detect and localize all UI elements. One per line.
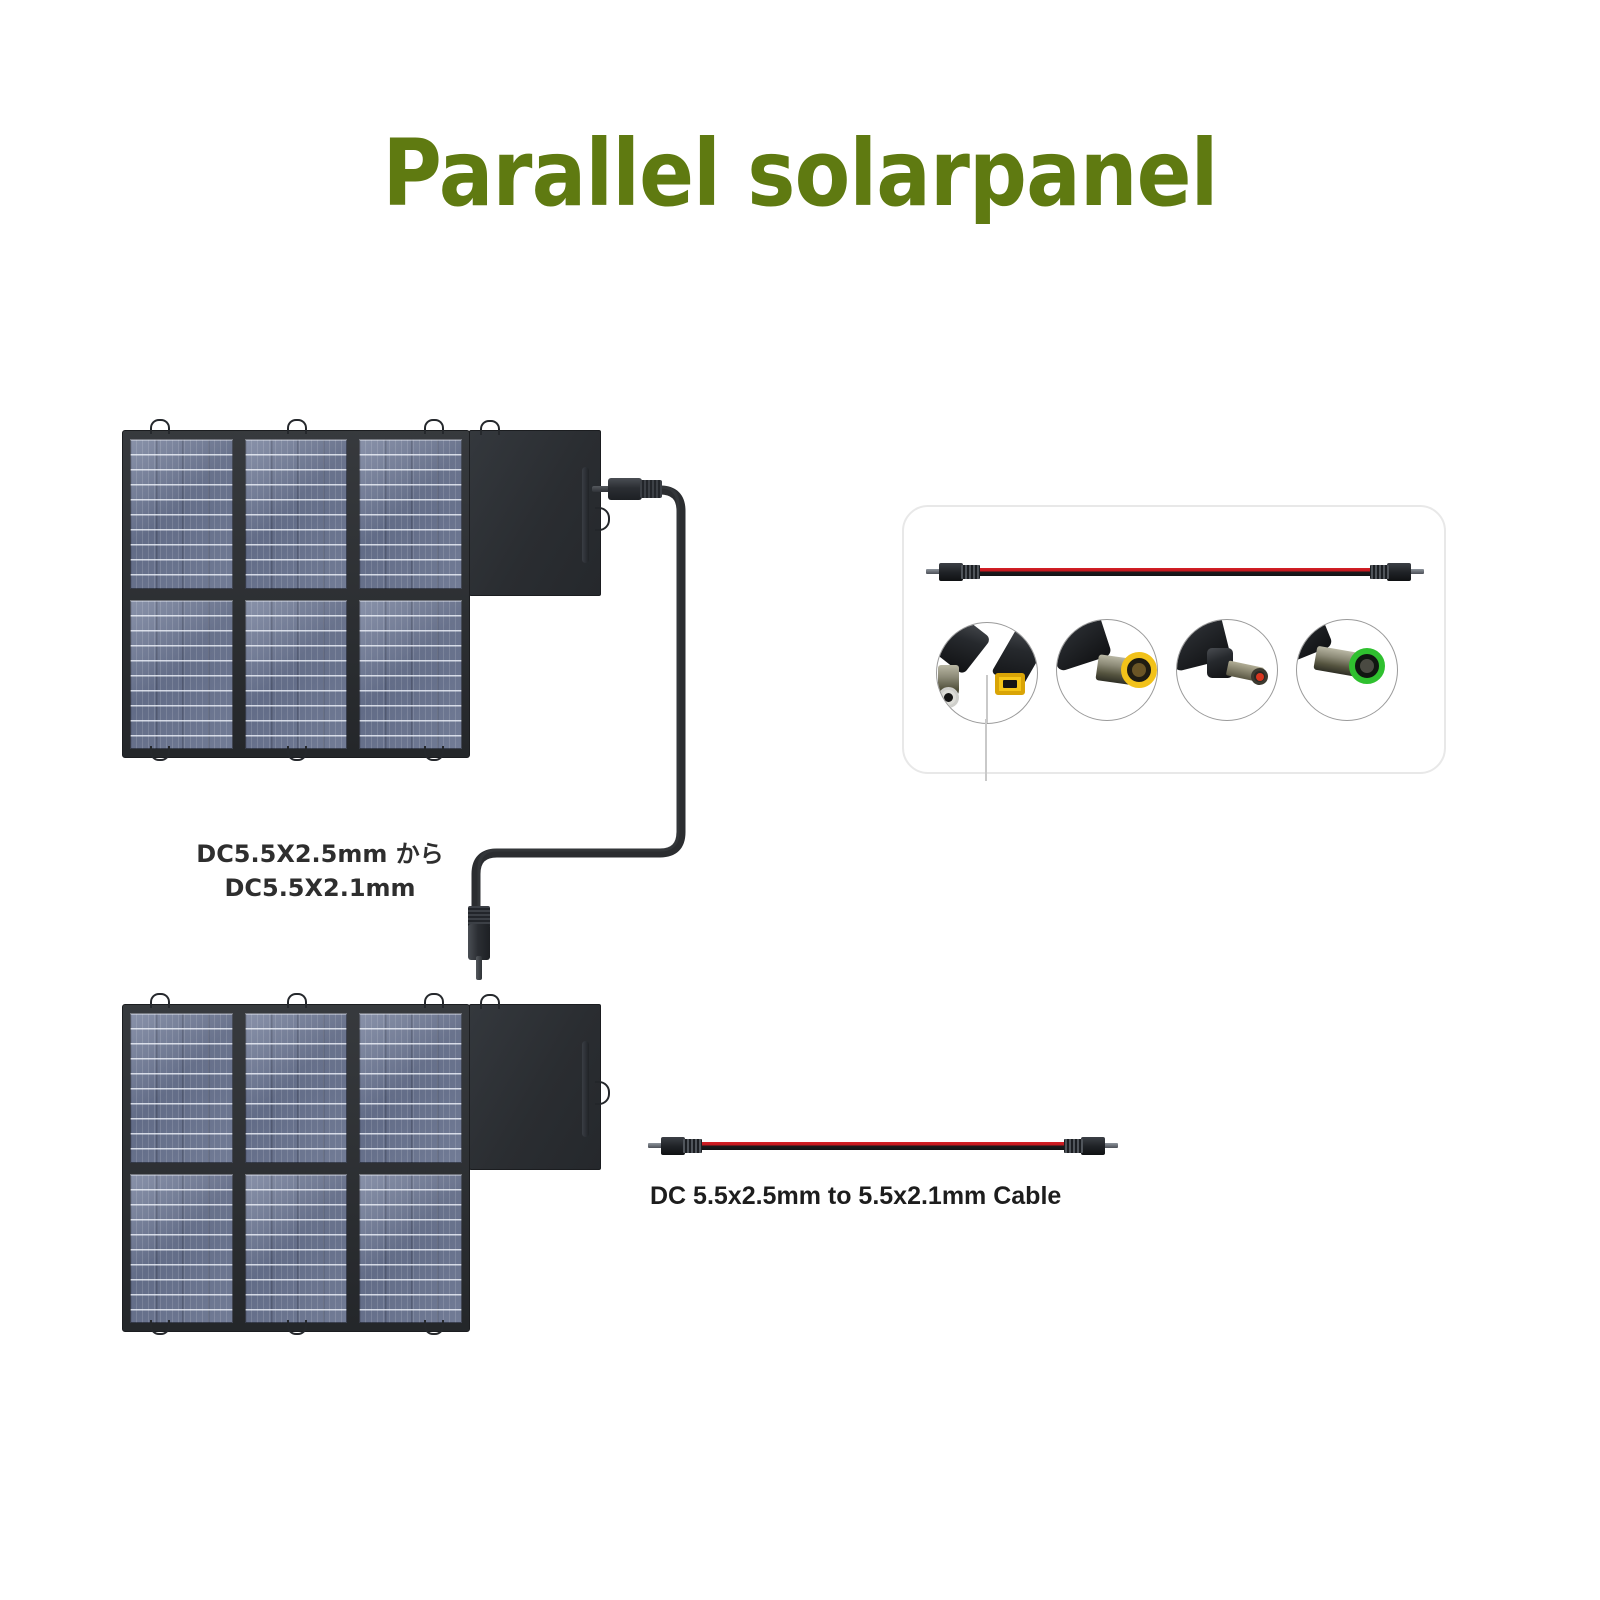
dc-plug-grip [1064, 1139, 1083, 1153]
flap-handle-strip [582, 467, 589, 563]
connector-detail-card [902, 505, 1446, 774]
solar-cell [245, 1174, 348, 1324]
solar-cell [359, 439, 462, 589]
solar-cell [130, 439, 233, 589]
dc-extension-cable-sample [648, 1133, 1118, 1159]
solar-cell [245, 439, 348, 589]
loop-icon [424, 993, 444, 1008]
dc-plug-barrel [1387, 563, 1411, 581]
solar-cell [130, 600, 233, 750]
solar-cell [359, 600, 462, 750]
loop-icon [150, 419, 170, 434]
dc-plug-grip [961, 565, 980, 579]
loop-icon [150, 1320, 170, 1335]
dc-plug-grip [683, 1139, 702, 1153]
dc-plug-pin [476, 956, 482, 980]
d-ring-icon [595, 1081, 610, 1105]
detail-divider [986, 675, 988, 724]
parallel-cable-label: DC5.5X2.5mm から DC5.5X2.1mm [170, 837, 470, 905]
loop-icon [287, 1320, 307, 1335]
dc-plug-icon [1368, 563, 1424, 581]
tip-slot [1003, 680, 1017, 688]
dc-plug-barrel [608, 478, 642, 500]
connector-detail-2 [1056, 619, 1158, 721]
dc-plug-icon [648, 1137, 704, 1155]
d-ring-icon [595, 507, 610, 531]
connector-detail-4 [1296, 619, 1398, 721]
small-barrel-plug-icon [1176, 622, 1277, 718]
dc-plug-icon [592, 478, 664, 500]
loop-icon [480, 420, 500, 435]
connector-detail-1 [936, 622, 1038, 724]
solar-cell [359, 1174, 462, 1324]
parallel-connection-cable [0, 0, 1600, 1600]
solar-cell [245, 600, 348, 750]
loop-icon [424, 746, 444, 761]
cable-caption: DC 5.5x2.5mm to 5.5x2.1mm Cable [650, 1181, 1061, 1211]
dc-plug-icon [1062, 1137, 1118, 1155]
dc-plug-barrel [468, 924, 490, 960]
cable-wire [700, 1142, 1066, 1150]
solar-panel-bottom-body [122, 1004, 470, 1332]
loop-icon [480, 994, 500, 1009]
dc-plug-barrel [1081, 1137, 1105, 1155]
loop-icon [287, 993, 307, 1008]
solar-panel-bottom-flap [469, 1004, 601, 1170]
yellow-square-tip-icon [987, 625, 1038, 717]
cable-wire [978, 568, 1372, 576]
flap-handle-strip [582, 1041, 589, 1137]
infographic-canvas: Parallel solarpanel [0, 0, 1600, 1600]
loop-icon [150, 993, 170, 1008]
dc-plug-icon [926, 563, 982, 581]
dc-plug-grip [640, 480, 662, 498]
dc-plug-barrel [661, 1137, 685, 1155]
dc-plug-grip [1370, 565, 1389, 579]
green-ring-connector-icon [1296, 619, 1398, 720]
barrel-plug-icon [936, 629, 989, 717]
solar-cell [359, 1013, 462, 1163]
loop-icon [287, 419, 307, 434]
connector-hole [1132, 663, 1146, 677]
card-dc-cable [926, 559, 1424, 585]
loop-icon [424, 1320, 444, 1335]
solar-panel-top [122, 418, 602, 758]
loop-icon [424, 419, 444, 434]
red-center-pin [1256, 673, 1264, 681]
dc-plug-icon [467, 906, 491, 980]
plug-hole [944, 693, 953, 702]
page-title: Parallel solarpanel [96, 128, 1504, 220]
solar-panel-top-body [122, 430, 470, 758]
yellow-ring-connector-icon [1059, 622, 1158, 718]
loop-icon [150, 746, 170, 761]
connector-detail-3 [1176, 619, 1278, 721]
detail-divider-extension [985, 719, 987, 781]
connector-hole [1360, 659, 1374, 673]
dc-plug-barrel [939, 563, 963, 581]
solar-panel-top-flap [469, 430, 601, 596]
loop-icon [287, 746, 307, 761]
solar-cell [245, 1013, 348, 1163]
solar-panel-bottom [122, 992, 602, 1332]
solar-cell [130, 1013, 233, 1163]
solar-cell [130, 1174, 233, 1324]
